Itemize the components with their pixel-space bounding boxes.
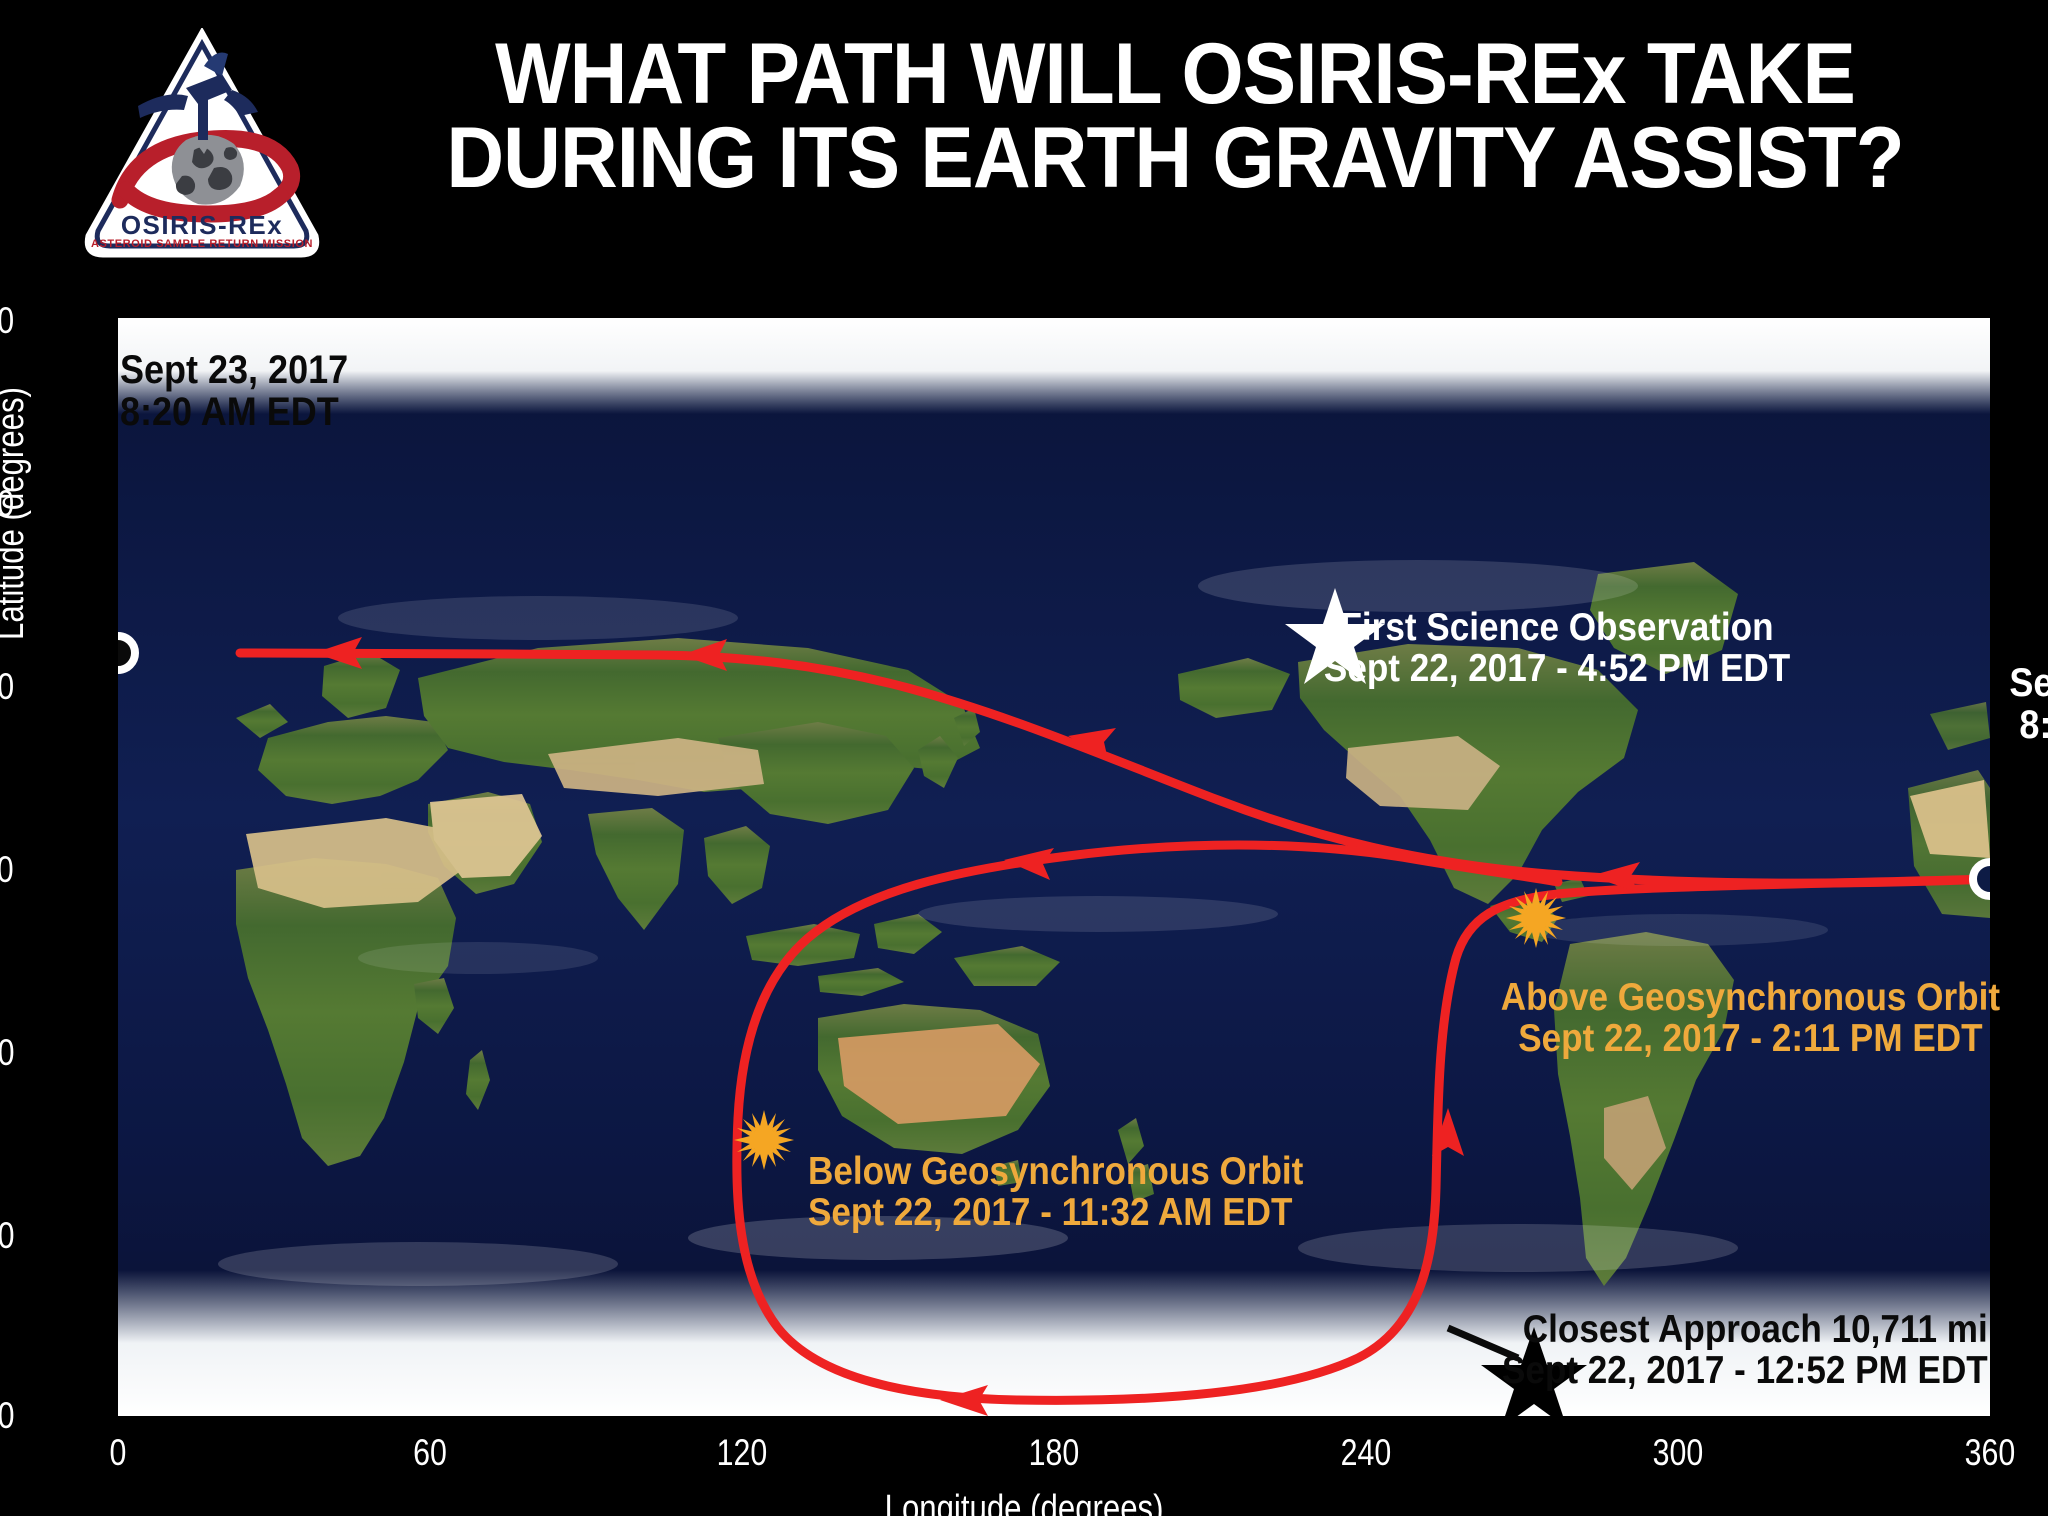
ytick-90: 90 (0, 300, 14, 342)
annotation-below-geosynchronous: Below Geosynchronous Orbit Sept 22, 2017… (808, 1152, 1303, 1233)
arctic-ice (118, 318, 1990, 414)
ytick--90: -90 (0, 1395, 14, 1437)
xtick-300: 300 (1645, 1432, 1711, 1474)
xtick-240: 240 (1333, 1432, 1399, 1474)
xtick-0: 0 (85, 1432, 151, 1474)
ytick-30: 30 (0, 666, 14, 708)
title-line-1: WHAT PATH WILL OSIRIS-REx TAKE (495, 26, 1855, 122)
infographic-root: OSIRIS-REx ASTEROID SAMPLE RETURN MISSIO… (0, 0, 2048, 1516)
above-geo-starburst-icon[interactable] (1506, 888, 1566, 948)
x-axis-label: Longitude (degrees) (0, 1488, 2048, 1516)
title-line-2: DURING ITS EARTH GRAVITY ASSIST? (389, 116, 1961, 200)
logo-tagline: ASTEROID SAMPLE RETURN MISSION (91, 238, 313, 250)
osiris-rex-mission-patch: OSIRIS-REx ASTEROID SAMPLE RETURN MISSIO… (82, 28, 322, 260)
y-axis-label: Latitude (degrees) (0, 387, 33, 640)
chart-plot-area: Sept 23, 2017 8:20 AM EDT Sept 21, 2017 … (118, 318, 1990, 1416)
annotation-closest-approach: Closest Approach 10,711 mi Sept 22, 2017… (1502, 1310, 1988, 1391)
xtick-180: 180 (1021, 1432, 1087, 1474)
annotation-sept23: Sept 23, 2017 8:20 AM EDT (120, 350, 348, 433)
annotation-sept21: Sept 21, 2017 8:20 PM EDT (2009, 663, 2048, 746)
annotation-first-science-observation: First Science Observation Sept 22, 2017 … (1324, 608, 1790, 689)
annotation-above-geosynchronous: Above Geosynchronous Orbit Sept 22, 2017… (1501, 978, 2000, 1059)
end-point-marker[interactable] (118, 636, 135, 670)
xtick-60: 60 (397, 1432, 463, 1474)
page-title: WHAT PATH WILL OSIRIS-REx TAKE DURING IT… (389, 32, 1961, 201)
ytick--60: -60 (0, 1215, 14, 1257)
below-geo-starburst-icon[interactable] (734, 1110, 794, 1170)
start-point-marker[interactable] (1973, 862, 1990, 896)
xtick-120: 120 (709, 1432, 775, 1474)
ytick--30: -30 (0, 1032, 14, 1074)
ytick-0: 0 (0, 849, 14, 891)
xtick-360: 360 (1957, 1432, 2023, 1474)
world-map-basemap (118, 318, 1990, 1416)
logo-wordmark: OSIRIS-REx (121, 210, 283, 240)
